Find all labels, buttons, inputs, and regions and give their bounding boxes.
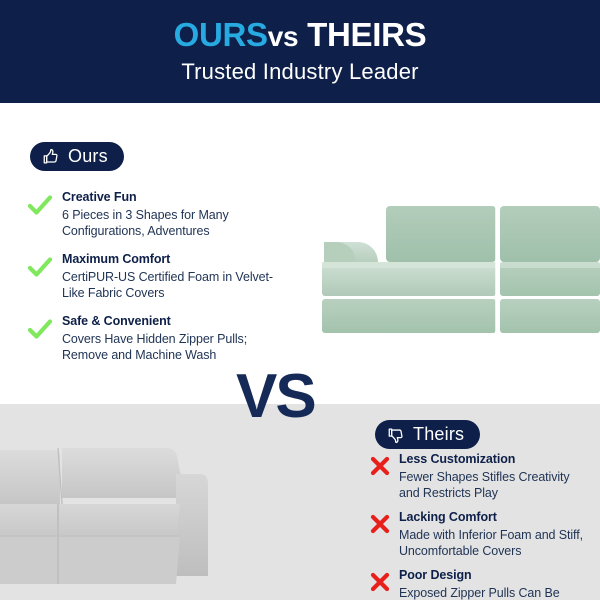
x-icon <box>368 512 392 536</box>
gray-standard-sofa-image <box>0 428 262 600</box>
feature-desc: 6 Pieces in 3 Shapes for Many Configurat… <box>62 207 276 240</box>
theirs-badge-label: Theirs <box>413 424 464 445</box>
page-title: OURSvs THEIRS <box>174 18 427 53</box>
title-theirs: THEIRS <box>307 16 426 53</box>
header-subtitle: Trusted Industry Leader <box>181 59 418 85</box>
x-icon <box>368 454 392 478</box>
vs-divider-label: VS <box>236 366 315 428</box>
thumbs-down-icon <box>387 426 405 444</box>
ours-badge: Ours <box>30 142 124 171</box>
feature-desc: Covers Have Hidden Zipper Pulls; Remove … <box>62 331 276 364</box>
feature-desc: CertiPUR-US Certified Foam in Velvet-Lik… <box>62 269 276 302</box>
title-ours: OURS <box>174 16 268 53</box>
thumbs-up-icon <box>42 148 60 166</box>
theirs-badge: Theirs <box>375 420 480 449</box>
feature-title: Less Customization <box>399 452 593 468</box>
list-item: Creative Fun 6 Pieces in 3 Shapes for Ma… <box>26 190 276 239</box>
feature-title: Lacking Comfort <box>399 510 593 526</box>
feature-desc: Fewer Shapes Stifles Creativity and Rest… <box>399 469 593 502</box>
title-vs: vs <box>268 21 299 52</box>
list-item: Lacking Comfort Made with Inferior Foam … <box>368 510 593 559</box>
comparison-infographic: OURSvs THEIRS Trusted Industry Leader <box>0 0 600 600</box>
x-icon <box>368 570 392 594</box>
feature-title: Poor Design <box>399 568 593 584</box>
list-item: Maximum Comfort CertiPUR-US Certified Fo… <box>26 252 276 301</box>
check-icon <box>26 315 54 343</box>
ours-badge-label: Ours <box>68 146 108 167</box>
check-icon <box>26 191 54 219</box>
green-modular-play-couch-image <box>310 196 600 348</box>
check-icon <box>26 253 54 281</box>
feature-title: Maximum Comfort <box>62 252 276 268</box>
theirs-feature-list: Less Customization Fewer Shapes Stifles … <box>368 452 593 600</box>
feature-title: Creative Fun <box>62 190 276 206</box>
list-item: Less Customization Fewer Shapes Stifles … <box>368 452 593 501</box>
ours-feature-list: Creative Fun 6 Pieces in 3 Shapes for Ma… <box>26 190 276 376</box>
list-item: Poor Design Exposed Zipper Pulls Can Be … <box>368 568 593 600</box>
feature-title: Safe & Convenient <box>62 314 276 330</box>
feature-desc: Exposed Zipper Pulls Can Be Dangerous; T… <box>399 585 593 600</box>
header-banner: OURSvs THEIRS Trusted Industry Leader <box>0 0 600 103</box>
list-item: Safe & Convenient Covers Have Hidden Zip… <box>26 314 276 363</box>
feature-desc: Made with Inferior Foam and Stiff, Uncom… <box>399 527 593 560</box>
